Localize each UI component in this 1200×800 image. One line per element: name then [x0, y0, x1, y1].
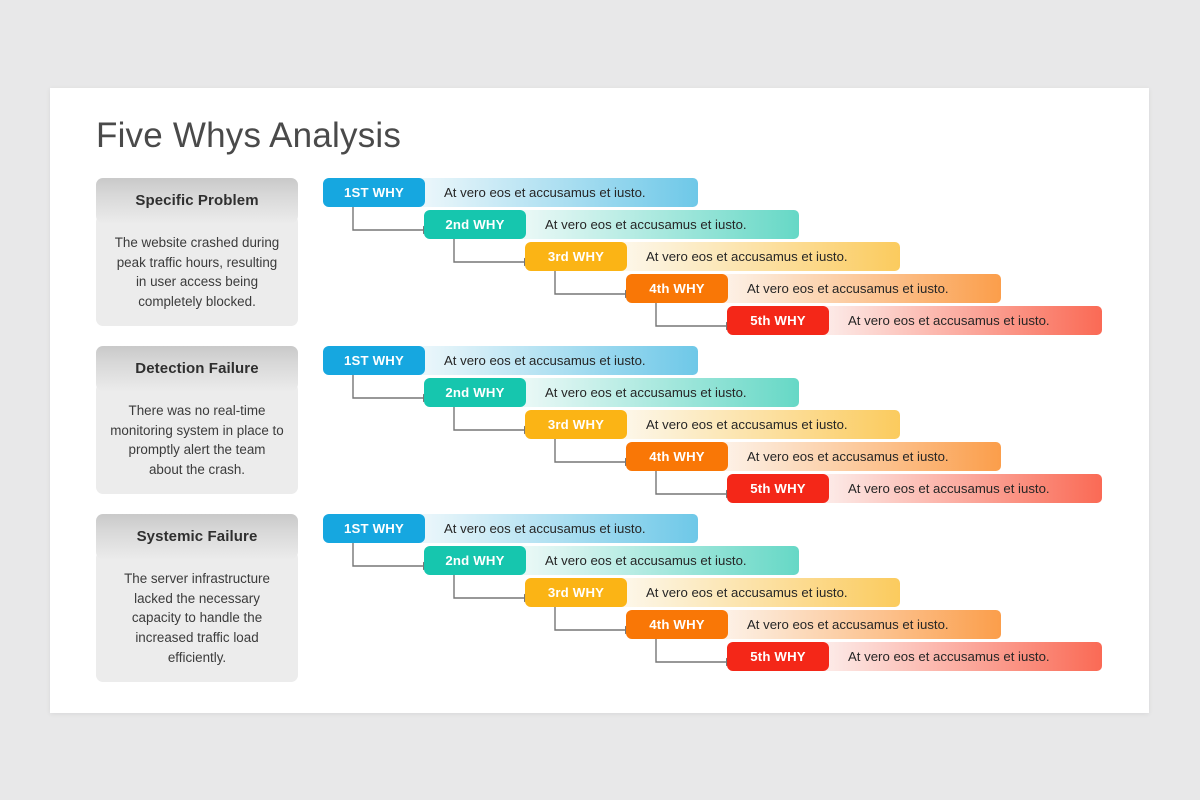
- why-row[interactable]: At vero eos et accusamus et iusto.5th WH…: [727, 474, 1102, 503]
- why-row[interactable]: At vero eos et accusamus et iusto.3rd WH…: [525, 578, 900, 607]
- why-level-pill[interactable]: 1ST WHY: [323, 346, 425, 375]
- why-row[interactable]: At vero eos et accusamus et iusto.4th WH…: [626, 442, 1001, 471]
- category-header: Detection Failure: [96, 346, 298, 391]
- why-statement-text: At vero eos et accusamus et iusto.: [444, 521, 646, 536]
- why-level-pill[interactable]: 2nd WHY: [424, 378, 526, 407]
- why-row[interactable]: At vero eos et accusamus et iusto.1ST WH…: [323, 346, 698, 375]
- why-row[interactable]: At vero eos et accusamus et iusto.4th WH…: [626, 610, 1001, 639]
- why-level-pill[interactable]: 3rd WHY: [525, 242, 627, 271]
- why-row[interactable]: At vero eos et accusamus et iusto.2nd WH…: [424, 546, 799, 575]
- category-block: Systemic FailureThe server infrastructur…: [96, 514, 298, 682]
- why-statement-text: At vero eos et accusamus et iusto.: [545, 217, 747, 232]
- why-statement-text: At vero eos et accusamus et iusto.: [646, 585, 848, 600]
- category-block: Specific ProblemThe website crashed duri…: [96, 178, 298, 326]
- why-level-pill[interactable]: 4th WHY: [626, 274, 728, 303]
- category-header: Specific Problem: [96, 178, 298, 223]
- category-header-label: Systemic Failure: [137, 528, 258, 545]
- why-row[interactable]: At vero eos et accusamus et iusto.2nd WH…: [424, 210, 799, 239]
- why-statement-text: At vero eos et accusamus et iusto.: [848, 649, 1050, 664]
- why-row[interactable]: At vero eos et accusamus et iusto.4th WH…: [626, 274, 1001, 303]
- why-level-pill[interactable]: 5th WHY: [727, 474, 829, 503]
- why-level-label: 1ST WHY: [344, 521, 404, 536]
- why-row[interactable]: At vero eos et accusamus et iusto.5th WH…: [727, 642, 1102, 671]
- why-level-label: 4th WHY: [649, 617, 705, 632]
- category-body-text: There was no real-time monitoring system…: [110, 401, 284, 480]
- why-level-pill[interactable]: 2nd WHY: [424, 210, 526, 239]
- why-level-label: 5th WHY: [750, 649, 806, 664]
- why-statement-text: At vero eos et accusamus et iusto.: [646, 417, 848, 432]
- why-row[interactable]: At vero eos et accusamus et iusto.3rd WH…: [525, 410, 900, 439]
- why-level-label: 2nd WHY: [445, 553, 504, 568]
- category-body: There was no real-time monitoring system…: [96, 383, 298, 494]
- why-statement-text: At vero eos et accusamus et iusto.: [545, 385, 747, 400]
- why-level-pill[interactable]: 4th WHY: [626, 610, 728, 639]
- why-level-label: 3rd WHY: [548, 417, 604, 432]
- why-row[interactable]: At vero eos et accusamus et iusto.1ST WH…: [323, 514, 698, 543]
- why-statement-text: At vero eos et accusamus et iusto.: [646, 249, 848, 264]
- why-level-label: 4th WHY: [649, 281, 705, 296]
- why-statement-text: At vero eos et accusamus et iusto.: [444, 353, 646, 368]
- why-statement-text: At vero eos et accusamus et iusto.: [747, 617, 949, 632]
- why-level-pill[interactable]: 1ST WHY: [323, 514, 425, 543]
- why-level-pill[interactable]: 5th WHY: [727, 306, 829, 335]
- why-statement-text: At vero eos et accusamus et iusto.: [444, 185, 646, 200]
- category-header: Systemic Failure: [96, 514, 298, 559]
- why-level-pill[interactable]: 4th WHY: [626, 442, 728, 471]
- why-level-pill[interactable]: 5th WHY: [727, 642, 829, 671]
- why-row[interactable]: At vero eos et accusamus et iusto.3rd WH…: [525, 242, 900, 271]
- why-level-label: 5th WHY: [750, 313, 806, 328]
- category-body: The website crashed during peak traffic …: [96, 215, 298, 326]
- category-body-text: The website crashed during peak traffic …: [110, 233, 284, 312]
- category-block: Detection FailureThere was no real-time …: [96, 346, 298, 494]
- why-statement-text: At vero eos et accusamus et iusto.: [545, 553, 747, 568]
- why-statement-text: At vero eos et accusamus et iusto.: [747, 449, 949, 464]
- why-level-label: 5th WHY: [750, 481, 806, 496]
- why-level-label: 3rd WHY: [548, 249, 604, 264]
- why-row[interactable]: At vero eos et accusamus et iusto.1ST WH…: [323, 178, 698, 207]
- why-level-label: 1ST WHY: [344, 185, 404, 200]
- why-statement-text: At vero eos et accusamus et iusto.: [848, 313, 1050, 328]
- why-level-pill[interactable]: 1ST WHY: [323, 178, 425, 207]
- slide-card: Five Whys Analysis Specific ProblemThe w…: [50, 88, 1149, 713]
- category-body-text: The server infrastructure lacked the nec…: [110, 569, 284, 668]
- why-level-label: 2nd WHY: [445, 385, 504, 400]
- category-body: The server infrastructure lacked the nec…: [96, 551, 298, 682]
- why-statement-text: At vero eos et accusamus et iusto.: [848, 481, 1050, 496]
- page-title: Five Whys Analysis: [96, 116, 401, 156]
- why-level-label: 1ST WHY: [344, 353, 404, 368]
- why-row[interactable]: At vero eos et accusamus et iusto.2nd WH…: [424, 378, 799, 407]
- category-header-label: Detection Failure: [135, 360, 258, 377]
- why-level-label: 4th WHY: [649, 449, 705, 464]
- why-level-pill[interactable]: 3rd WHY: [525, 410, 627, 439]
- why-level-label: 2nd WHY: [445, 217, 504, 232]
- why-level-label: 3rd WHY: [548, 585, 604, 600]
- why-statement-text: At vero eos et accusamus et iusto.: [747, 281, 949, 296]
- why-row[interactable]: At vero eos et accusamus et iusto.5th WH…: [727, 306, 1102, 335]
- why-level-pill[interactable]: 3rd WHY: [525, 578, 627, 607]
- why-level-pill[interactable]: 2nd WHY: [424, 546, 526, 575]
- category-header-label: Specific Problem: [135, 192, 258, 209]
